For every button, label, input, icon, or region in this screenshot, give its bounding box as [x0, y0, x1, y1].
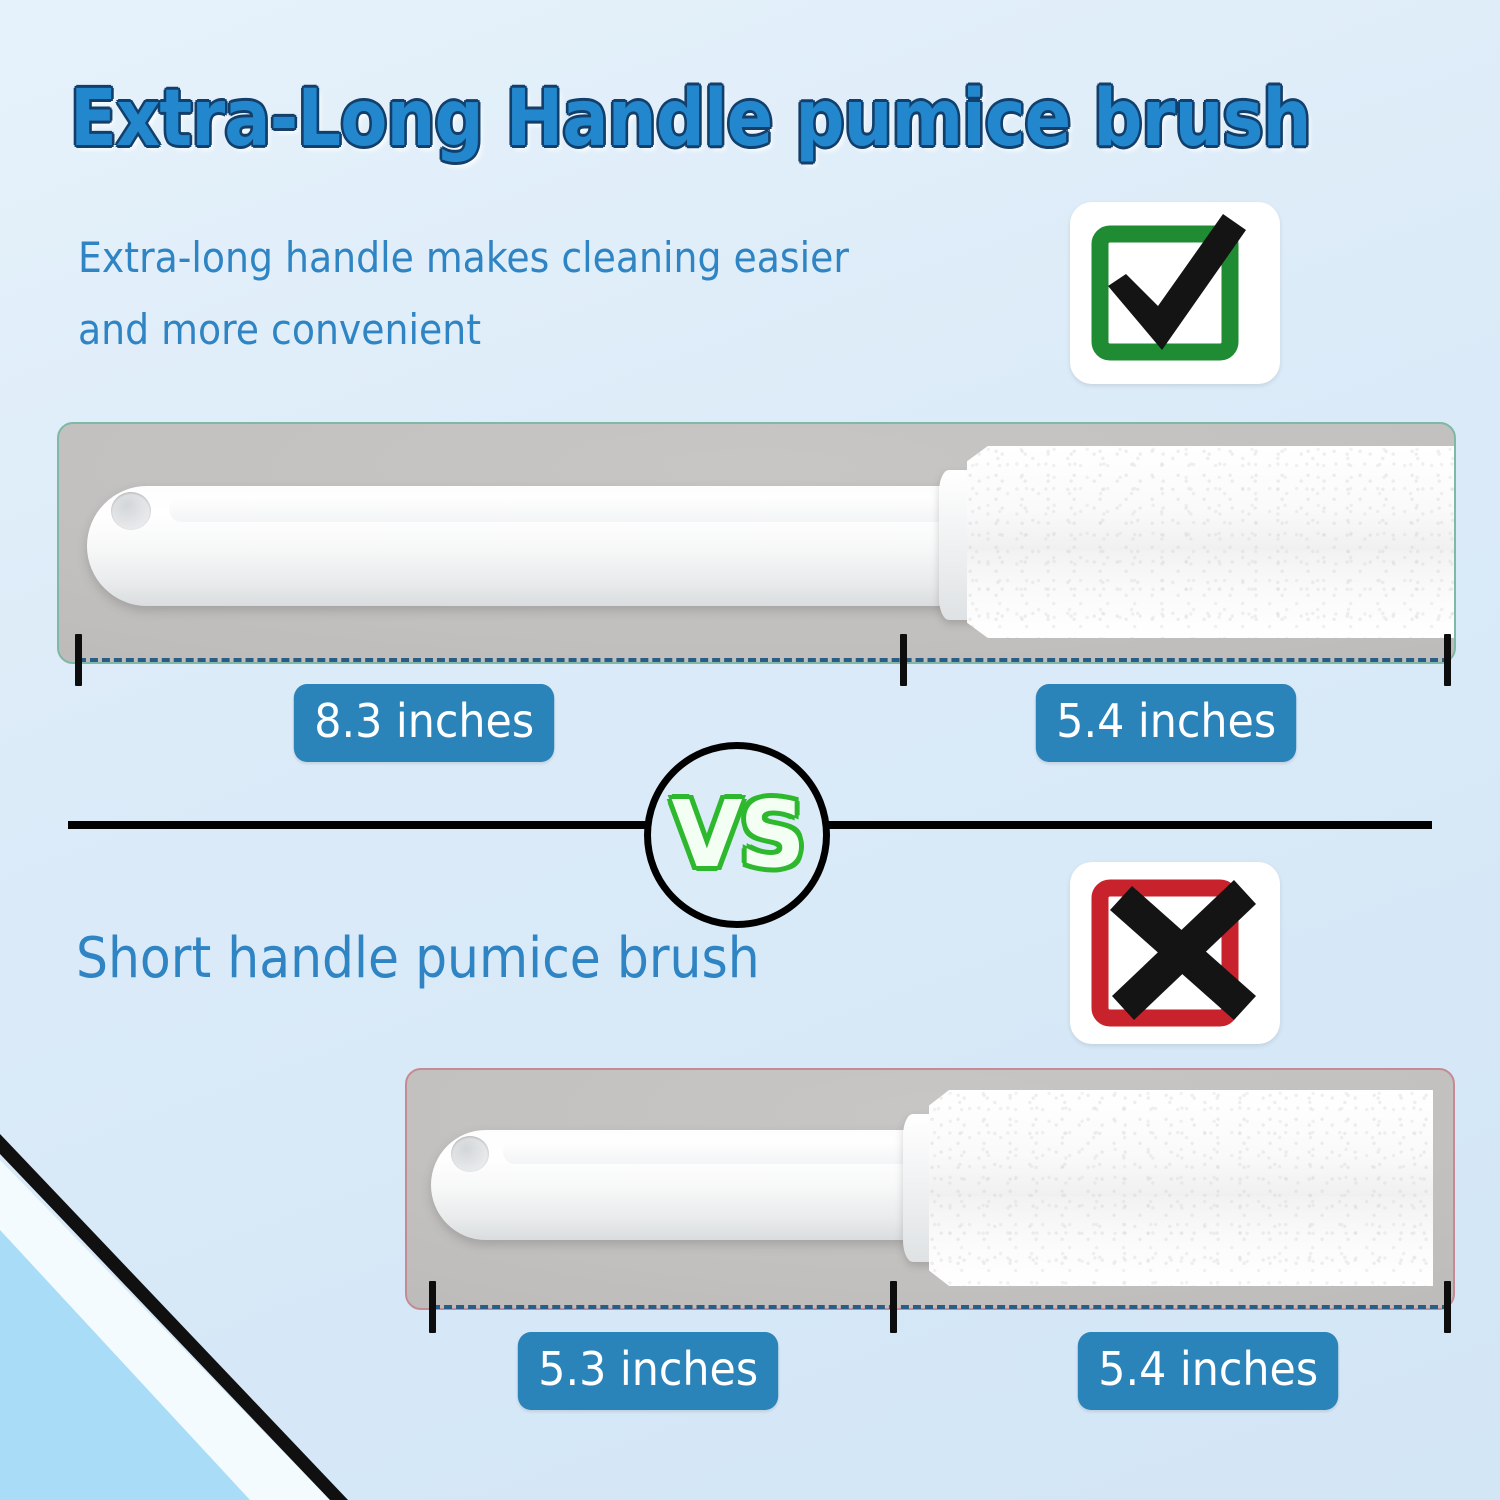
vs-label: VS — [671, 789, 802, 881]
handle-groove — [503, 1140, 933, 1164]
measure-line-top — [78, 658, 1450, 662]
pumice-head — [929, 1090, 1433, 1286]
decorative-corner-graphic — [0, 1120, 360, 1500]
measure-pill-bottom-handle: 5.3 inches — [518, 1332, 779, 1410]
cross-mark-icon — [1070, 862, 1280, 1044]
measure-tick-top-middle — [900, 634, 907, 686]
subtitle-line-1: Extra-long handle makes cleaning easier — [78, 222, 888, 294]
measure-pill-top-handle: 8.3 inches — [294, 684, 555, 762]
short-handle-brush-illustration — [407, 1070, 1453, 1308]
measure-tick-top-left — [75, 634, 82, 686]
measure-tick-bottom-left — [429, 1281, 436, 1333]
check-mark-icon — [1070, 202, 1280, 384]
measure-pill-top-head: 5.4 inches — [1036, 684, 1297, 762]
measure-tick-bottom-middle — [890, 1281, 897, 1333]
bad-badge — [1070, 862, 1280, 1044]
subtitle-line-2: and more convenient — [78, 294, 888, 366]
hang-hole — [451, 1136, 489, 1172]
vs-badge: VS — [644, 742, 830, 928]
measure-tick-top-right — [1444, 634, 1451, 686]
handle-groove — [169, 496, 969, 522]
product-photo-long-handle — [57, 422, 1456, 664]
subtitle-block: Extra-long handle makes cleaning easier … — [78, 222, 888, 366]
divider-line-left — [68, 821, 668, 829]
short-handle-heading: Short handle pumice brush — [76, 920, 760, 998]
pumice-texture — [929, 1090, 1433, 1286]
good-badge — [1070, 202, 1280, 384]
infographic-canvas: Extra-Long Handle pumice brush Extra-lon… — [0, 0, 1500, 1500]
long-handle-brush-illustration — [59, 424, 1454, 662]
pumice-texture — [967, 446, 1456, 638]
divider-line-right — [792, 821, 1432, 829]
measure-tick-bottom-right — [1444, 1281, 1451, 1333]
pumice-head — [967, 446, 1456, 638]
product-photo-short-handle — [405, 1068, 1455, 1310]
page-title: Extra-Long Handle pumice brush — [70, 72, 1284, 166]
measure-pill-bottom-head: 5.4 inches — [1078, 1332, 1339, 1410]
hang-hole — [111, 492, 151, 530]
measure-line-bottom — [432, 1305, 1450, 1309]
